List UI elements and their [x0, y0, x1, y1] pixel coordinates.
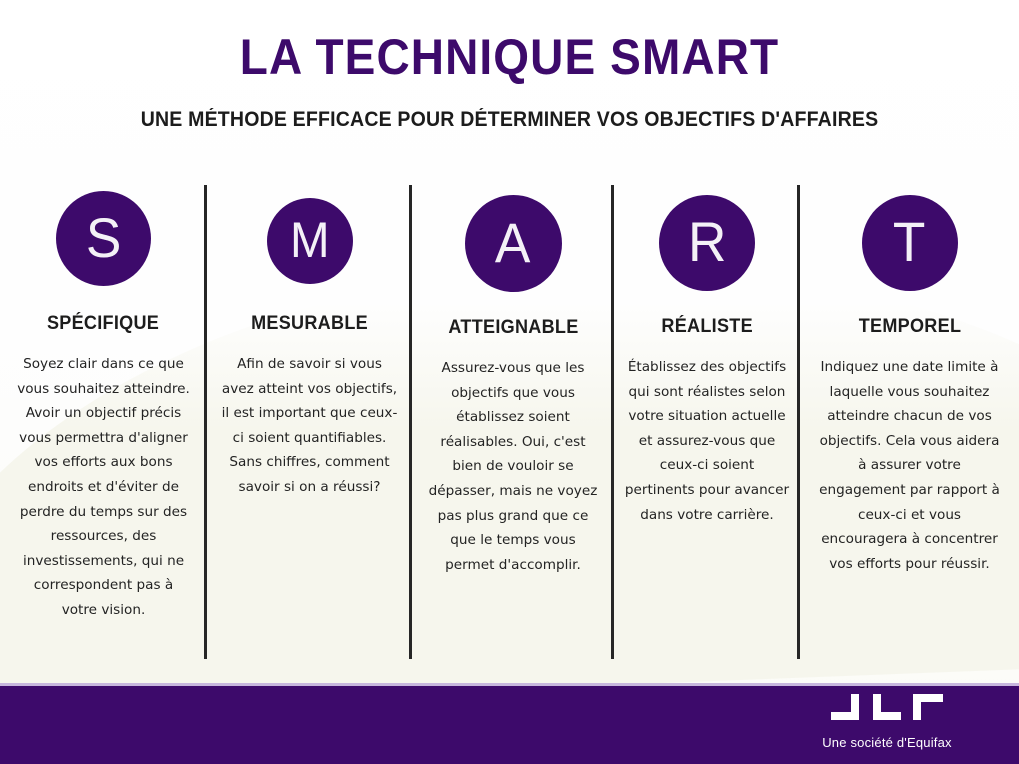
- column-atteignable: A ATTEIGNABLE Assurez-vous que les objec…: [412, 182, 614, 577]
- column-body-temporel: Indiquez une date limite à laquelle vous…: [818, 355, 1001, 576]
- smart-columns: S SPÉCIFIQUE Soyez clair dans ce que vou…: [0, 182, 1019, 662]
- circle-letter: A: [495, 215, 530, 271]
- column-title-realiste: RÉALISTE: [661, 316, 753, 338]
- circle-letter: M: [290, 215, 330, 265]
- letter-circle-a: A: [465, 195, 562, 292]
- footer-bar: Une société d'Equifax: [0, 686, 1019, 764]
- column-realiste: R RÉALISTE Établissez des objectifs qui …: [614, 182, 800, 527]
- column-body-specifique: Soyez clair dans ce que vous souhaitez a…: [16, 352, 192, 623]
- column-body-atteignable: Assurez-vous que les objectifs que vous …: [427, 356, 599, 577]
- column-title-specifique: SPÉCIFIQUE: [47, 313, 159, 335]
- letter-circle-r: R: [659, 195, 755, 291]
- letter-circle-s: S: [56, 191, 151, 286]
- jlr-logo-icon: [777, 694, 997, 728]
- smart-infographic: LA TECHNIQUE SMART UNE MÉTHODE EFFICACE …: [0, 0, 1019, 764]
- circle-letter: S: [86, 210, 121, 266]
- letter-circle-m: M: [267, 198, 353, 284]
- column-mesurable: M MESURABLE Afin de savoir si vous avez …: [207, 182, 412, 500]
- column-body-realiste: Établissez des objectifs qui sont réalis…: [624, 355, 790, 527]
- brand-tagline: Une société d'Equifax: [777, 735, 997, 750]
- circle-letter: T: [893, 214, 926, 270]
- column-title-atteignable: ATTEIGNABLE: [448, 317, 578, 339]
- column-temporel: T TEMPOREL Indiquez une date limite à la…: [800, 182, 1019, 576]
- column-specifique: S SPÉCIFIQUE Soyez clair dans ce que vou…: [0, 182, 207, 623]
- column-title-mesurable: MESURABLE: [251, 313, 368, 335]
- column-body-mesurable: Afin de savoir si vous avez atteint vos …: [222, 352, 398, 500]
- circle-letter: R: [688, 214, 726, 270]
- header: LA TECHNIQUE SMART UNE MÉTHODE EFFICACE …: [0, 0, 1019, 132]
- column-title-temporel: TEMPOREL: [858, 316, 961, 338]
- page-title: LA TECHNIQUE SMART: [41, 0, 978, 86]
- page-subtitle: UNE MÉTHODE EFFICACE POUR DÉTERMINER VOS…: [36, 86, 984, 132]
- brand-logo-block: Une société d'Equifax: [777, 694, 997, 750]
- letter-circle-t: T: [862, 195, 958, 291]
